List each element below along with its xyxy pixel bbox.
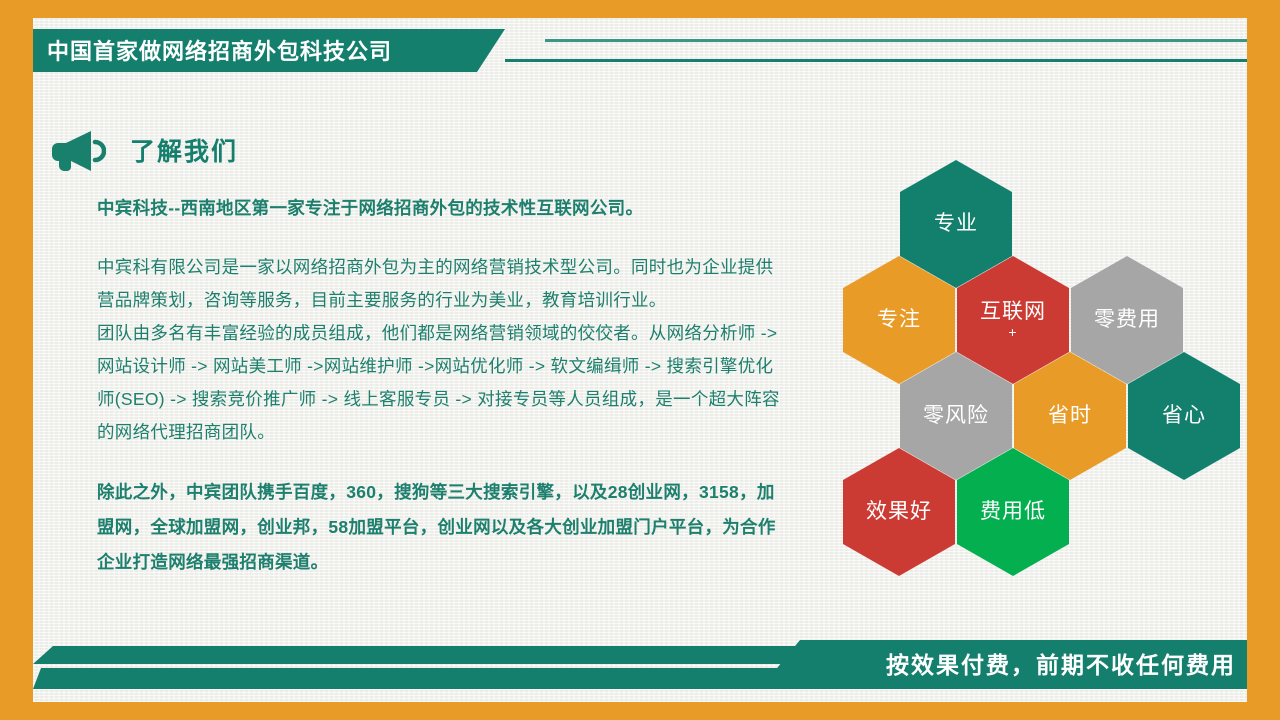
hexagon-label: 省时: [1048, 405, 1092, 427]
megaphone-icon: [50, 128, 106, 172]
footer-tagline: 按效果付费，前期不收任何费用: [886, 641, 1236, 690]
body-paragraph-2: 团队由多名有丰富经验的成员组成，他们都是网络营销领域的佼佼者。从网络分析师 ->…: [97, 317, 787, 449]
hexagon-label: 互联网: [980, 301, 1046, 323]
section-heading: 了解我们: [50, 128, 238, 172]
lead-paragraph: 中宾科技--西南地区第一家专注于网络招商外包的技术性互联网公司。: [97, 192, 787, 225]
header-rule-thin: [545, 39, 1247, 42]
header-rule: [505, 29, 1247, 72]
tail-paragraph: 除此之外，中宾团队携手百度，360，搜狗等三大搜索引擎，以及28创业网，3158…: [97, 475, 787, 580]
hexagon-label: 零费用: [1094, 309, 1160, 331]
hexagon-label: 专注: [877, 309, 921, 331]
hexagon-sublabel: +: [1008, 325, 1017, 340]
hexagon-label: 专业: [934, 213, 978, 235]
section-title: 了解我们: [130, 132, 238, 168]
hexagon-label: 省心: [1162, 405, 1206, 427]
header-rule-thick: [505, 59, 1247, 62]
hexagon-cluster: 专业专注互联网+零费用零风险省时省心效果好费用低: [838, 160, 1208, 532]
body-paragraph-1: 中宾科有限公司是一家以网络招商外包为主的网络营销技术型公司。同时也为企业提供营品…: [97, 251, 787, 317]
hexagon-label: 费用低: [980, 501, 1046, 523]
header-title: 中国首家做网络招商外包科技公司: [47, 30, 392, 73]
hexagon-label: 零风险: [923, 405, 989, 427]
hexagon-label: 效果好: [866, 501, 932, 523]
body-text-column: 中宾科技--西南地区第一家专注于网络招商外包的技术性互联网公司。 中宾科有限公司…: [97, 192, 787, 580]
